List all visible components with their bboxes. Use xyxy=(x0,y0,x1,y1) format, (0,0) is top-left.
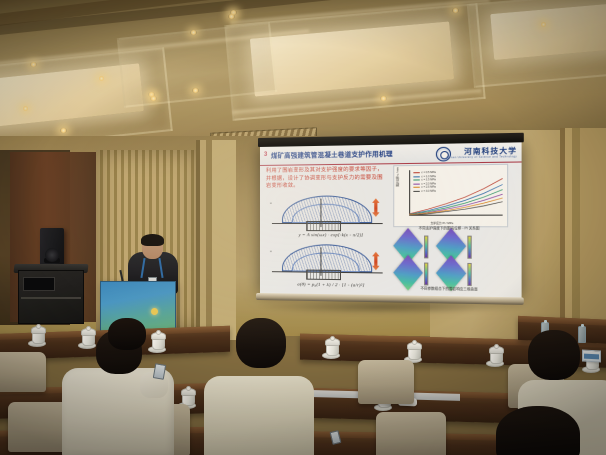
ceiling-spotlight xyxy=(540,22,547,27)
ceiling-spotlight xyxy=(150,96,157,101)
surfaces-caption: 不同参数组合下的围岩响应三维曲面 xyxy=(393,285,506,292)
chair xyxy=(0,352,46,392)
name-card-band xyxy=(584,353,599,359)
conference-room-photo: 3 煤矿高强建筑管混凝土巷道支护作用机理 河南科技大学 Henan Univer… xyxy=(0,0,606,455)
ceiling-spotlight xyxy=(98,76,105,81)
chart-legend-label: c = 2.0 MPa xyxy=(421,182,435,185)
chart-legend-swatch xyxy=(413,176,419,177)
cart-device xyxy=(23,277,55,291)
chart-legend-item: c = 3.0 MPa xyxy=(413,190,435,194)
ceiling-spotlight xyxy=(228,14,235,19)
screen-shadow xyxy=(258,300,508,314)
cup-knob xyxy=(494,344,499,349)
cup-knob xyxy=(412,340,417,345)
slide-diagram-1: u xyxy=(266,192,389,229)
audience-member-head xyxy=(496,406,580,455)
slide-title-number: 3 xyxy=(264,151,267,157)
surface-colorbar xyxy=(467,263,472,286)
cart-shelf xyxy=(21,297,81,299)
ceiling-spotlight xyxy=(30,62,37,67)
cup-knob xyxy=(156,330,161,335)
ceiling-spotlight xyxy=(452,8,459,13)
ceiling-spotlight xyxy=(60,128,67,133)
speaker-hair xyxy=(141,234,164,246)
chart-legend: c = 0.5 MPac = 1.0 MPac = 1.5 MPac = 2.0… xyxy=(413,171,435,194)
speaker-cone-icon xyxy=(45,248,59,262)
slide-body: 利用了围岩变形及其对支护强度的要求等因子，并根据，设计了协调变形与支护反力的需要… xyxy=(260,161,522,298)
surface-plot xyxy=(436,231,473,260)
chart-legend-swatch xyxy=(413,183,419,184)
chart-legend-swatch xyxy=(413,191,419,192)
surface-plot xyxy=(436,258,473,288)
surface-colorbar xyxy=(424,236,428,259)
chart-legend-swatch xyxy=(413,180,419,181)
slide-paragraph: 利用了围岩变形及其对支护强度的要求等因子，并根据，设计了协调变形与支护反力的需要… xyxy=(266,166,387,190)
ceiling-spotlight xyxy=(192,88,199,93)
ceiling-spotlight xyxy=(190,30,197,35)
chart-legend-label: c = 2.5 MPa xyxy=(421,186,435,189)
surface-plot xyxy=(393,258,429,287)
chart-legend-swatch xyxy=(413,172,419,173)
slide-equation-2: σ(θ) = p₀(1 + λ) / 2 · [1 - (a/r)²] xyxy=(278,281,385,288)
chair xyxy=(376,412,446,455)
diagram-hatch-region xyxy=(306,221,341,231)
teacup xyxy=(181,388,194,405)
presentation-slide: 3 煤矿高强建筑管混凝土巷道支护作用机理 河南科技大学 Henan Univer… xyxy=(260,142,522,298)
av-equipment-cart xyxy=(18,270,84,324)
screen-surface: 3 煤矿高强建筑管混凝土巷道支护作用机理 河南科技大学 Henan Univer… xyxy=(260,142,522,298)
ceiling-spotlight xyxy=(22,106,29,111)
audience-member-head xyxy=(236,318,286,368)
diagram-axis-label: u xyxy=(270,201,272,205)
chart-y-label: 围岩位移 u / mm xyxy=(395,167,399,187)
water-bottle xyxy=(578,326,586,343)
name-card xyxy=(582,350,601,363)
slide-line-chart: c = 0.5 MPac = 1.0 MPac = 1.5 MPac = 2.0… xyxy=(393,164,508,228)
slide-diagram-2: u xyxy=(266,241,389,279)
cup-knob xyxy=(36,324,41,329)
chart-legend-swatch xyxy=(413,187,419,188)
surface-plot xyxy=(393,231,429,260)
diagram-hatch-region xyxy=(306,270,341,281)
slide-surface-plots xyxy=(393,231,506,286)
slide-title: 煤矿高强建筑管混凝土巷道支护作用机理 xyxy=(271,149,393,160)
cup-knob xyxy=(86,326,91,331)
diagram-axis-label: u xyxy=(270,249,272,253)
surface-colorbar xyxy=(424,263,428,286)
audience-member-head xyxy=(108,318,146,350)
cup-knob xyxy=(330,336,335,341)
ceiling-spotlight xyxy=(380,96,387,101)
teacup xyxy=(407,342,420,359)
slide-equation-1: y = A sin(ωx) · exp[-k(x - π/2)] xyxy=(278,232,385,237)
wall-corner-right xyxy=(560,128,606,348)
chair xyxy=(358,360,414,404)
podium-sun-icon xyxy=(151,308,158,315)
audience-member-head xyxy=(528,330,580,380)
cup-knob xyxy=(186,386,191,391)
teacup xyxy=(81,328,94,345)
audience-member-torso xyxy=(204,376,314,455)
university-name-en: Henan University of Science and Technolo… xyxy=(447,155,517,159)
teacup xyxy=(489,346,502,363)
chart-legend-label: c = 3.0 MPa xyxy=(421,190,435,193)
ceiling xyxy=(0,0,606,150)
wall-pilaster-left xyxy=(196,140,236,340)
teacup xyxy=(31,326,44,343)
teacup xyxy=(151,332,164,349)
teacup xyxy=(325,338,338,355)
projection-screen: 3 煤矿高强建筑管混凝土巷道支护作用机理 河南科技大学 Henan Univer… xyxy=(258,133,524,312)
surface-colorbar xyxy=(467,236,472,259)
